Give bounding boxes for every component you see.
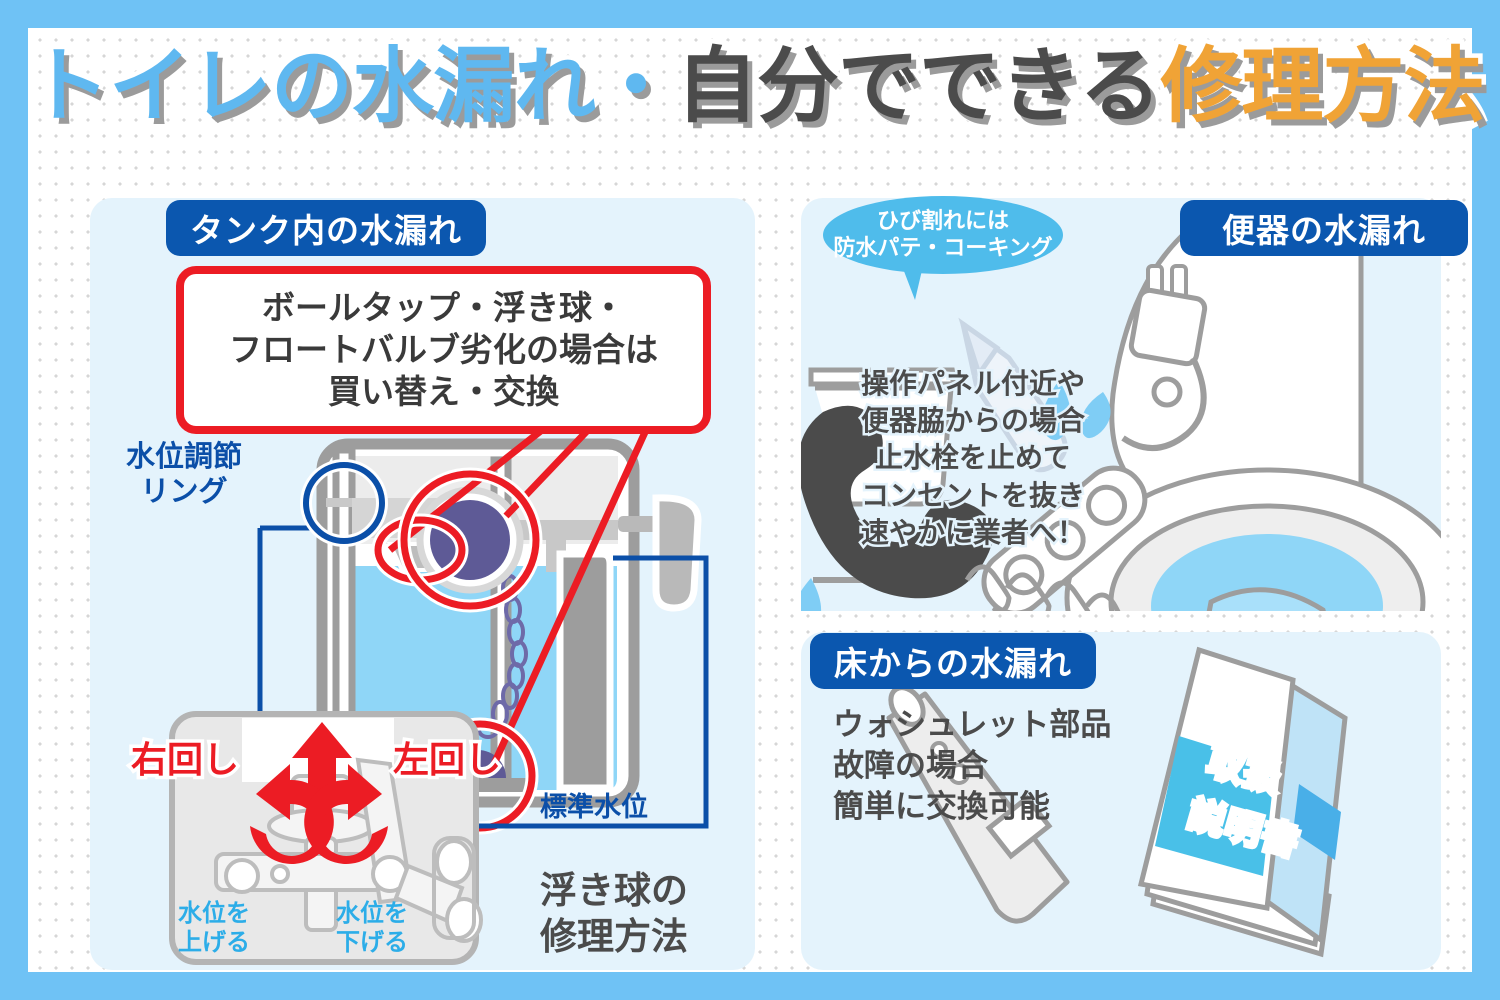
badge-tank-leak: タンク内の水漏れ: [166, 200, 486, 256]
title-part-blue: トイレの水漏れ・: [28, 46, 676, 128]
label-standard-water-level: 標準水位: [540, 785, 648, 824]
label-float-repair-method: 浮き球の 修理方法: [540, 868, 688, 961]
label-raise-water-level: 水位を 上げる: [178, 899, 250, 958]
title-part-orange: 修理方法: [1160, 46, 1484, 128]
bowl-instruction-text: 操作パネル付近や 便器脇からの場合 止水栓を止めて コンセントを抜き 速やかに業…: [828, 365, 1118, 551]
speech-bubble-tail: [902, 266, 923, 300]
badge-bowl-leak: 便器の水漏れ: [1180, 200, 1468, 256]
badge-floor-leak: 床からの水漏れ: [810, 633, 1096, 689]
floor-instruction-text: ウォシュレット部品 故障の場合 簡単に交換可能: [833, 704, 1111, 828]
infographic-frame: トイレの水漏れ・自分でできる修理方法: [28, 28, 1472, 972]
label-right-turn: 右回し: [131, 731, 239, 783]
label-lower-water-level: 水位を 下げる: [336, 899, 408, 958]
label-left-turn: 左回し: [393, 731, 501, 783]
toilet-bowl-icon: [1067, 208, 1441, 611]
title-part-dark: 自分でできる: [676, 46, 1160, 128]
page-title: トイレの水漏れ・自分でできる修理方法: [28, 46, 1472, 128]
red-callout-box: ボールタップ・浮き球・ フロートバルブ劣化の場合は 買い替え・交換: [176, 266, 711, 434]
caulk-speech-bubble: ひび割れには 防水パテ・コーキング: [823, 196, 1063, 274]
label-water-level-ring: 水位調節 リング: [126, 440, 242, 510]
